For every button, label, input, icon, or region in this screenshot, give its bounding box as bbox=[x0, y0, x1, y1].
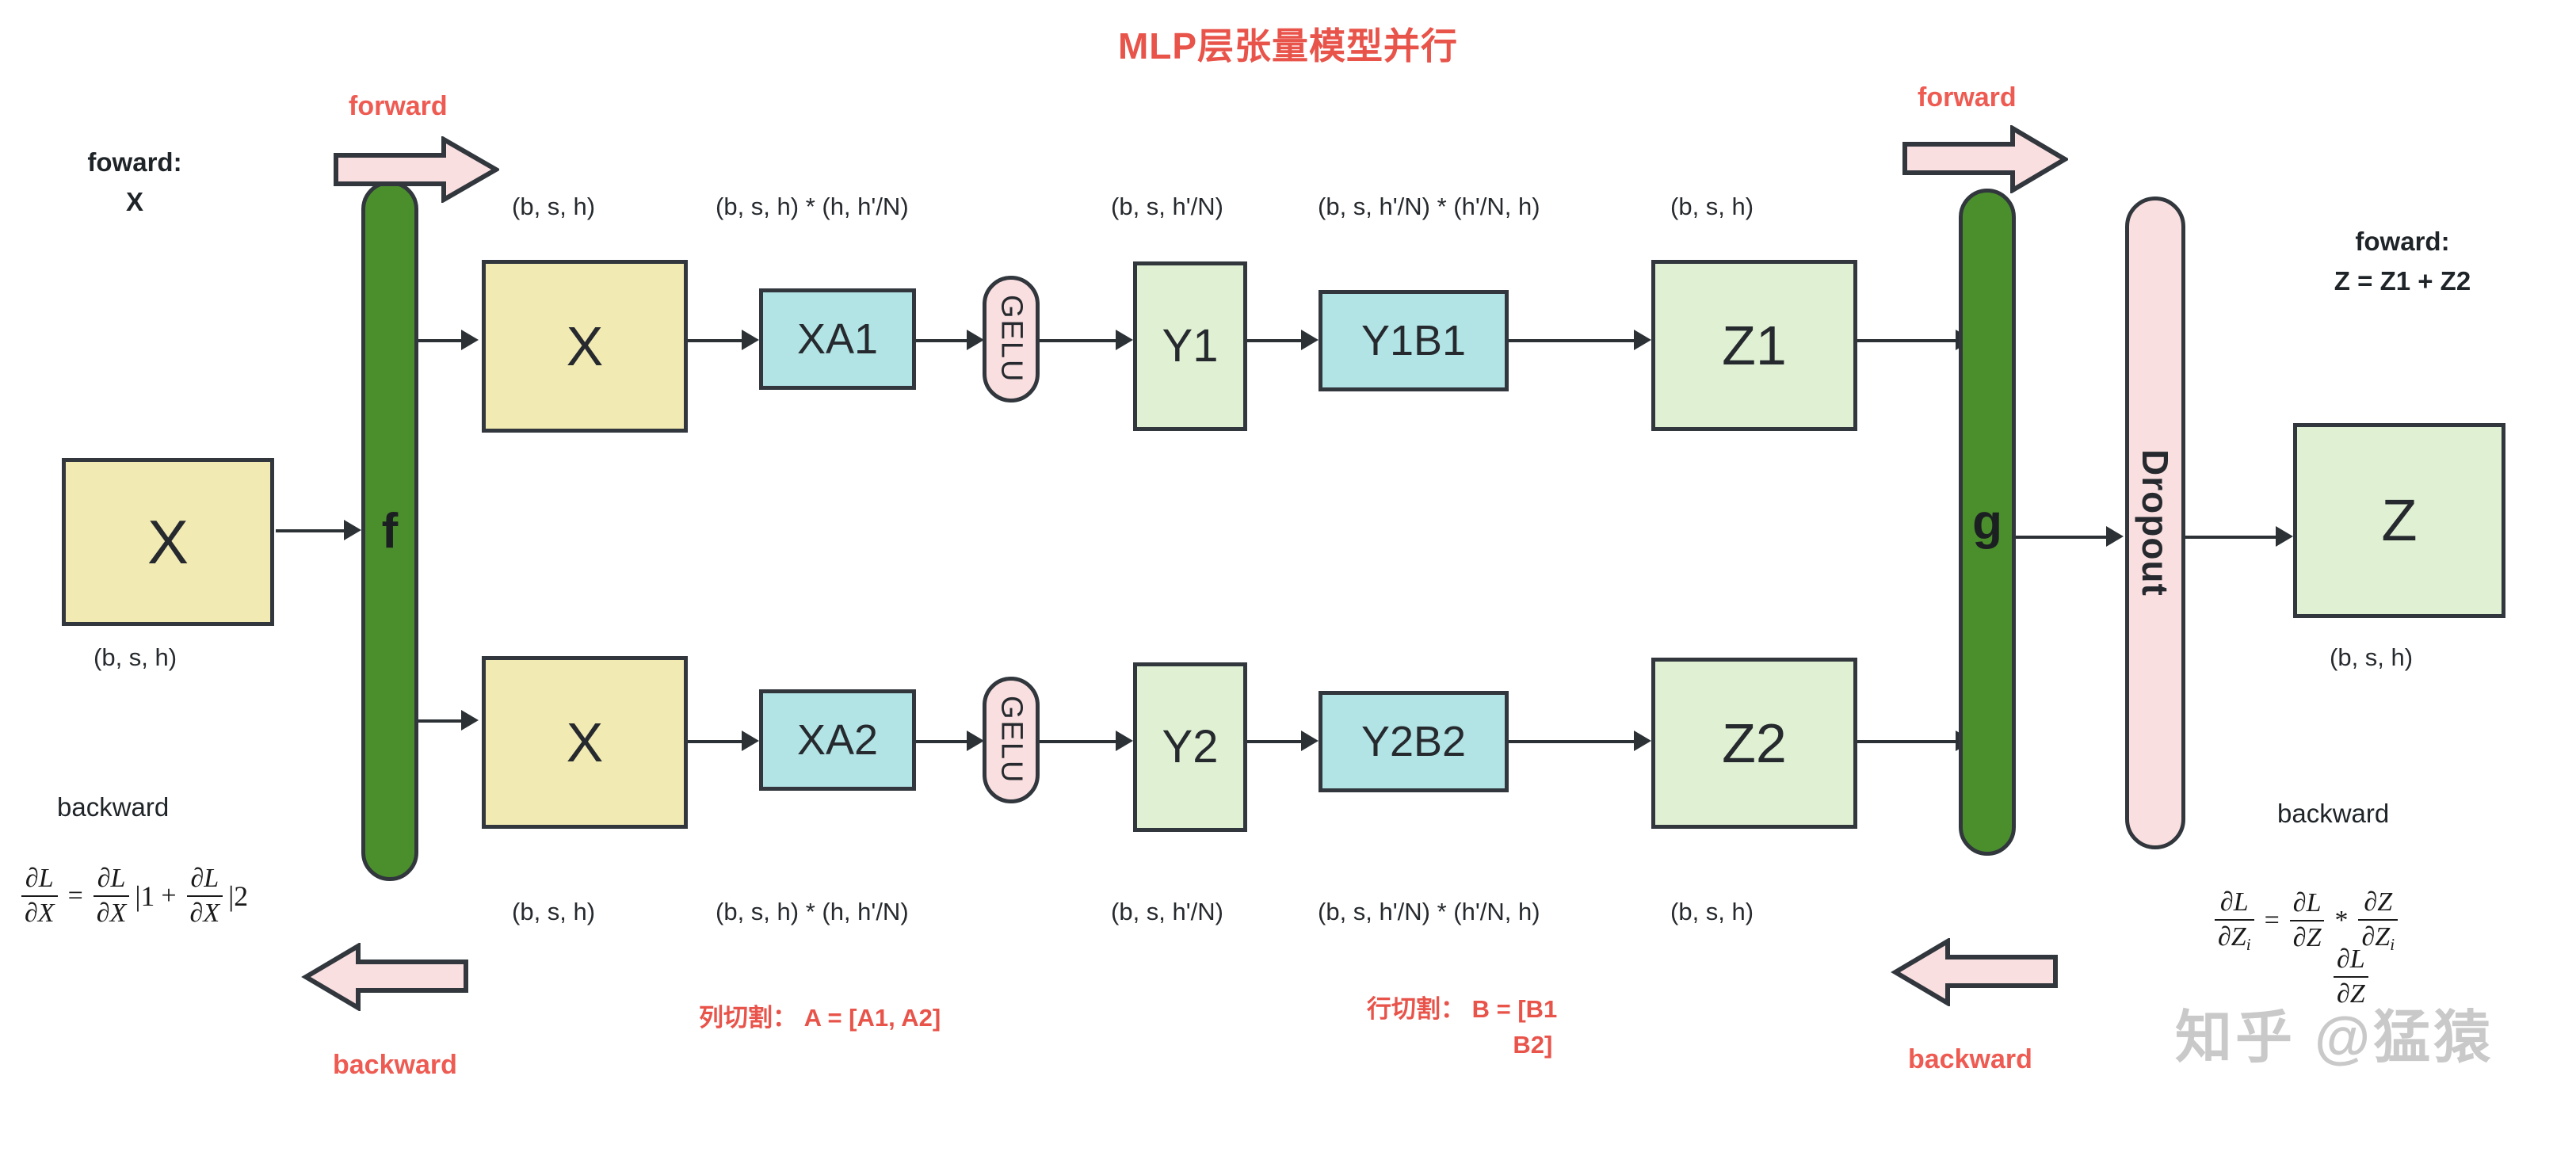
top-dim-4: (b, s, h) bbox=[1670, 193, 1754, 221]
backward-arrow-right-icon bbox=[1891, 938, 2059, 1006]
forward-arrow-left-icon bbox=[333, 136, 499, 203]
formula-left-t2-bar: |2 bbox=[228, 879, 248, 913]
bottom-node-xa2-label: XA2 bbox=[797, 719, 878, 761]
top-node-y1b1[interactable]: Y1B1 bbox=[1319, 290, 1509, 391]
connector-y2b2-z2 bbox=[1509, 740, 1635, 743]
input-node-x[interactable]: X bbox=[62, 458, 274, 626]
top-activation-gelu-label: GELU bbox=[994, 295, 1028, 383]
top-dim-3: (b, s, h'/N) * (h'/N, h) bbox=[1318, 193, 1540, 221]
arrow-backward-right-label: backward bbox=[1908, 1044, 2032, 1075]
arrow-backward-left-label: backward bbox=[333, 1050, 457, 1081]
formula-right-t1-num: ∂L bbox=[2290, 888, 2325, 920]
bottom-node-z2-label: Z2 bbox=[1722, 715, 1787, 771]
formula-right-lhs: ∂L ∂Zi bbox=[2215, 887, 2254, 955]
arrowhead-y1-y1b1 bbox=[1301, 330, 1319, 350]
top-node-x[interactable]: X bbox=[482, 260, 688, 433]
top-dim-2: (b, s, h'/N) bbox=[1111, 193, 1223, 221]
connector-gelu-y2 bbox=[1040, 740, 1117, 743]
connector-top-x-xa1 bbox=[688, 339, 743, 342]
connector-x-to-f bbox=[276, 529, 345, 532]
arrowhead-bottom-x-xa2 bbox=[742, 731, 759, 751]
formula-right-lhs-den-base: ∂Z bbox=[2218, 922, 2246, 952]
arrowhead-y2-y2b2 bbox=[1301, 731, 1319, 751]
top-node-y1-label: Y1 bbox=[1162, 323, 1219, 369]
left-forward-label: foward: bbox=[55, 143, 214, 182]
bottom-dim-4: (b, s, h) bbox=[1670, 898, 1754, 926]
left-forward-annotation: foward: X bbox=[55, 143, 214, 221]
connector-f-to-bottom-x bbox=[418, 719, 463, 723]
bottom-node-x[interactable]: X bbox=[482, 656, 688, 829]
arrowhead-f-to-bottom-x bbox=[461, 710, 479, 731]
watermark: 知乎 @猛猿 bbox=[2175, 990, 2494, 1074]
backward-arrow-left-icon bbox=[301, 943, 469, 1011]
bottom-node-xa2[interactable]: XA2 bbox=[759, 689, 916, 791]
formula-right-t2-num: ∂Z bbox=[2360, 887, 2395, 919]
arrowhead-y1b1-z1 bbox=[1634, 330, 1651, 350]
formula-right-term2: ∂Z ∂Zi bbox=[2358, 887, 2398, 955]
formula-left-t2-num: ∂L bbox=[187, 864, 222, 895]
top-node-xa1-label: XA1 bbox=[797, 318, 878, 361]
formula-right-t2-den-sub: i bbox=[2390, 935, 2395, 954]
right-forward-value: Z = Z1 + Z2 bbox=[2268, 261, 2537, 301]
formula-left-t1-num: ∂L bbox=[94, 864, 129, 895]
gate-g[interactable]: g bbox=[1959, 189, 2016, 856]
bottom-activation-gelu[interactable]: GELU bbox=[983, 677, 1040, 803]
arrowhead-top-x-xa1 bbox=[742, 330, 759, 350]
connector-xa1-gelu bbox=[916, 339, 968, 342]
bottom-node-y2-label: Y2 bbox=[1162, 724, 1219, 770]
top-node-z1[interactable]: Z1 bbox=[1651, 260, 1857, 431]
right-backward-formula: ∂L ∂Zi = ∂L ∂Z * ∂Z ∂Zi bbox=[2211, 887, 2402, 955]
bottom-node-y2[interactable]: Y2 bbox=[1133, 662, 1247, 832]
top-node-y1b1-label: Y1B1 bbox=[1361, 319, 1466, 362]
arrowhead-f-to-top-x bbox=[461, 330, 479, 350]
arrow-forward-left-label: forward bbox=[349, 91, 448, 122]
formula-left-lhs: ∂L ∂X bbox=[21, 864, 58, 929]
formula-right-lhs-den: ∂Zi bbox=[2215, 919, 2254, 955]
connector-f-to-top-x bbox=[418, 339, 463, 342]
left-backward-label: backward bbox=[57, 792, 169, 822]
formula-left-plus: + bbox=[161, 881, 176, 911]
formula-left-lhs-num: ∂L bbox=[22, 864, 57, 895]
right-forward-label: foward: bbox=[2268, 222, 2537, 261]
top-node-y1[interactable]: Y1 bbox=[1133, 261, 1247, 431]
input-node-x-dim: (b, s, h) bbox=[93, 643, 177, 672]
formula-left-lhs-den: ∂X bbox=[21, 895, 58, 929]
output-node-z[interactable]: Z bbox=[2293, 423, 2505, 618]
connector-y1-y1b1 bbox=[1247, 339, 1303, 342]
gate-f-label: f bbox=[382, 503, 399, 559]
bottom-node-y2b2[interactable]: Y2B2 bbox=[1319, 691, 1509, 792]
connector-gelu-y1 bbox=[1040, 339, 1117, 342]
top-activation-gelu[interactable]: GELU bbox=[983, 276, 1040, 403]
arrowhead-xa2-gelu bbox=[967, 731, 984, 751]
formula-right-term1: ∂L ∂Z bbox=[2290, 888, 2325, 953]
right-forward-annotation: foward: Z = Z1 + Z2 bbox=[2268, 222, 2537, 300]
bottom-dim-2: (b, s, h'/N) bbox=[1111, 898, 1223, 926]
formula-right-lhs-num: ∂L bbox=[2217, 887, 2252, 919]
top-dim-1: (b, s, h) * (h, h'/N) bbox=[716, 193, 909, 221]
top-node-xa1[interactable]: XA1 bbox=[759, 288, 916, 390]
formula-right-lhs-den-sub: i bbox=[2246, 935, 2251, 954]
formula-left-t1-den: ∂X bbox=[93, 895, 130, 929]
formula-left-eq: = bbox=[68, 881, 83, 911]
bottom-dim-3: (b, s, h'/N) * (h'/N, h) bbox=[1318, 898, 1540, 926]
connector-y2-y2b2 bbox=[1247, 740, 1303, 743]
page-title: MLP层张量模型并行 bbox=[0, 17, 2576, 70]
output-node-z-dim: (b, s, h) bbox=[2330, 643, 2413, 672]
formula-left-term1: ∂L ∂X bbox=[93, 864, 130, 929]
connector-y1b1-z1 bbox=[1509, 339, 1635, 342]
arrow-forward-right-label: forward bbox=[1918, 82, 2017, 113]
arrowhead-gelu-y2 bbox=[1116, 731, 1133, 751]
formula-right-times: * bbox=[2334, 906, 2348, 936]
formula-right-second-num: ∂L bbox=[2334, 948, 2368, 976]
connector-xa2-gelu bbox=[916, 740, 968, 743]
connector-bottom-x-xa2 bbox=[688, 740, 743, 743]
arrowhead-dropout-to-z bbox=[2276, 526, 2293, 547]
bottom-activation-gelu-label: GELU bbox=[994, 696, 1028, 784]
formula-right-t1-den: ∂Z bbox=[2290, 920, 2325, 953]
top-dim-0: (b, s, h) bbox=[512, 193, 595, 221]
row-split-note-line1: 行切割： B = [B1 bbox=[1367, 992, 1557, 1028]
arrowhead-g-to-dropout bbox=[2106, 526, 2124, 547]
arrowhead-x-to-f bbox=[344, 520, 361, 540]
right-backward-label: backward bbox=[2277, 799, 2389, 829]
connector-z1-g bbox=[1857, 339, 1957, 342]
top-node-z1-label: Z1 bbox=[1722, 318, 1787, 373]
row-split-note: 行切割： B = [B1 B2] bbox=[1367, 992, 1557, 1063]
formula-left-t2-den: ∂X bbox=[187, 895, 223, 929]
forward-arrow-right-icon bbox=[1902, 125, 2068, 193]
left-forward-value: X bbox=[55, 182, 214, 222]
bottom-node-z2[interactable]: Z2 bbox=[1651, 658, 1857, 829]
column-split-note: 列切割： A = [A1, A2] bbox=[699, 1001, 941, 1036]
formula-left-term2: ∂L ∂X bbox=[187, 864, 223, 929]
dropout-block[interactable]: Dropout bbox=[2125, 196, 2185, 849]
formula-left-t1-bar: |1 bbox=[135, 879, 155, 913]
gate-g-label: g bbox=[1972, 494, 2002, 551]
dropout-label: Dropout bbox=[2134, 449, 2177, 597]
connector-dropout-to-z bbox=[2185, 536, 2277, 539]
input-node-x-label: X bbox=[147, 511, 189, 573]
arrowhead-y2b2-z2 bbox=[1634, 731, 1651, 751]
diagram-canvas: MLP层张量模型并行 foward: X backward ∂L ∂X = ∂L… bbox=[0, 0, 2576, 1156]
gate-f[interactable]: f bbox=[361, 181, 418, 881]
left-backward-formula: ∂L ∂X = ∂L ∂X |1 + ∂L ∂X |2 bbox=[17, 864, 248, 929]
row-split-note-line2: B2] bbox=[1367, 1028, 1557, 1063]
bottom-node-x-label: X bbox=[567, 715, 604, 770]
connector-g-to-dropout bbox=[2016, 536, 2108, 539]
output-node-z-label: Z bbox=[2381, 491, 2417, 550]
arrowhead-gelu-y1 bbox=[1116, 330, 1133, 350]
bottom-node-y2b2-label: Y2B2 bbox=[1361, 720, 1466, 763]
connector-z2-g bbox=[1857, 740, 1957, 743]
formula-right-eq: = bbox=[2265, 906, 2280, 936]
arrowhead-xa1-gelu bbox=[967, 330, 984, 350]
top-node-x-label: X bbox=[567, 319, 604, 374]
bottom-dim-0: (b, s, h) bbox=[512, 898, 595, 926]
bottom-dim-1: (b, s, h) * (h, h'/N) bbox=[716, 898, 909, 926]
